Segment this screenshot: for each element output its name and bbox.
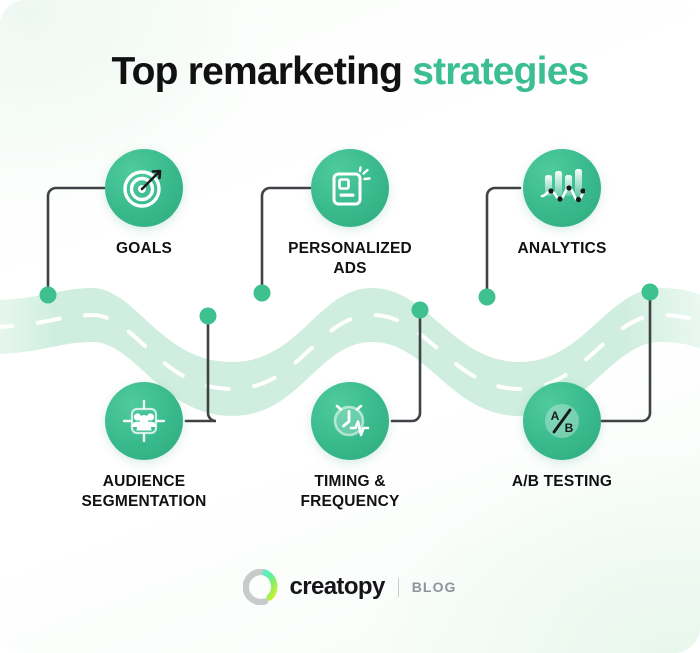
wave-dot-personalized-ads: [254, 285, 271, 302]
connector-dots: [40, 284, 659, 325]
node-ab-testing-label: A/B TESTING: [487, 472, 637, 492]
infographic-canvas: Top remarketing strategies: [0, 0, 700, 653]
bar-chart-line-icon: [539, 166, 585, 210]
title-accent: strategies: [412, 50, 588, 93]
node-analytics-label: ANALYTICS: [487, 239, 637, 259]
people-target-icon: [121, 398, 167, 444]
creatopy-ring-icon: [243, 569, 279, 605]
logo-divider: [398, 578, 399, 597]
node-timing-frequency-label: TIMING & FREQUENCY: [275, 472, 425, 512]
title-primary: Top remarketing: [112, 50, 403, 93]
node-goals-label: GOALS: [69, 239, 219, 259]
ab-letter-a: A: [551, 409, 560, 423]
wave-dot-timing-frequency: [412, 302, 429, 319]
node-audience-segmentation-label: AUDIENCE SEGMENTATION: [69, 472, 219, 512]
wave-dashed-line: [0, 315, 700, 389]
node-ab-testing[interactable]: A B A/B TESTING: [487, 382, 637, 492]
target-arrow-icon: [121, 165, 167, 211]
wave-dot-goals: [40, 287, 57, 304]
wave-dot-audience-segmentation: [200, 308, 217, 325]
alarm-clock-pulse-icon: [327, 398, 373, 444]
page-title: Top remarketing strategies: [0, 52, 700, 91]
node-audience-segmentation[interactable]: AUDIENCE SEGMENTATION: [69, 382, 219, 512]
node-ab-testing-circle[interactable]: A B: [523, 382, 601, 460]
node-personalized-ads[interactable]: PERSONALIZED ADS: [275, 149, 425, 279]
personalized-ad-card-icon: [328, 166, 372, 210]
brand-name: creatopy: [289, 573, 384, 601]
connector-lines: [0, 0, 700, 653]
node-personalized-ads-circle[interactable]: [311, 149, 389, 227]
wave-ribbon: [0, 0, 700, 653]
node-audience-segmentation-circle[interactable]: [105, 382, 183, 460]
ab-letter-b: B: [565, 421, 574, 435]
node-goals[interactable]: GOALS: [69, 149, 219, 259]
blog-label: BLOG: [412, 579, 457, 595]
node-timing-frequency-circle[interactable]: [311, 382, 389, 460]
footer-branding: creatopy BLOG: [0, 569, 700, 605]
wave-dot-ab-testing: [642, 284, 659, 301]
wave-dot-analytics: [479, 289, 496, 306]
node-analytics-circle[interactable]: [523, 149, 601, 227]
ab-split-circle-icon: A B: [539, 398, 585, 444]
node-analytics[interactable]: ANALYTICS: [487, 149, 637, 259]
node-personalized-ads-label: PERSONALIZED ADS: [275, 239, 425, 279]
node-timing-frequency[interactable]: TIMING & FREQUENCY: [275, 382, 425, 512]
node-goals-circle[interactable]: [105, 149, 183, 227]
